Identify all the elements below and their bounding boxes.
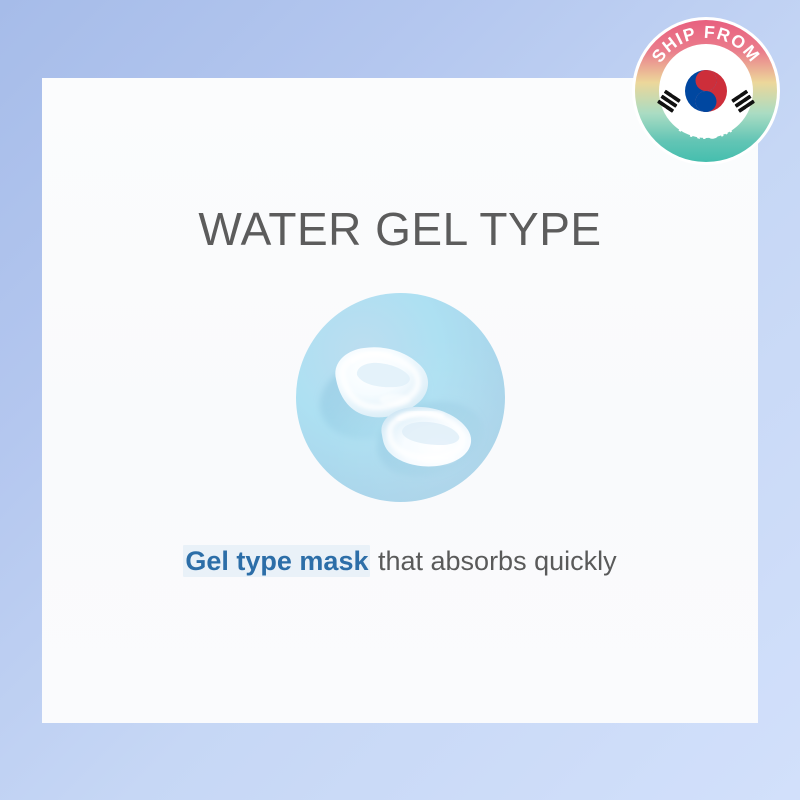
gel-blob-upper xyxy=(335,347,428,417)
caption: Gel type mask that absorbs quickly xyxy=(0,546,800,577)
gel-blob-lower xyxy=(381,407,471,467)
gel-blob-illustration xyxy=(296,293,505,502)
caption-rest: that absorbs quickly xyxy=(370,546,616,576)
promo-banner: WATER GEL TYPE xyxy=(0,0,800,800)
gel-texture-swatch xyxy=(296,293,505,502)
swatch-circle-background xyxy=(296,293,505,502)
gel-shadow xyxy=(310,344,492,488)
taegeuk-icon xyxy=(685,70,727,112)
page-title: WATER GEL TYPE xyxy=(0,202,800,256)
caption-highlight: Gel type mask xyxy=(183,545,370,577)
ship-from-badge: SHIP FROM PRISM xyxy=(631,16,781,166)
